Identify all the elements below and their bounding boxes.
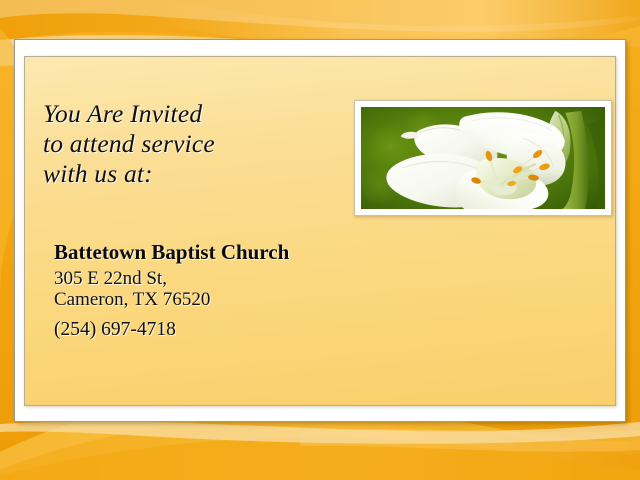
invitation-heading: You Are Invited to attend service with u…	[43, 99, 343, 189]
address-block: Battetown Baptist Church 305 E 22nd St, …	[54, 240, 394, 341]
city-state-zip: Cameron, TX 76520	[54, 289, 394, 310]
phone-number: (254) 697-4718	[54, 319, 394, 341]
lily-photo-icon	[361, 107, 605, 209]
invitation-slide: You Are Invited to attend service with u…	[0, 0, 640, 480]
lily-picture-frame	[354, 100, 612, 216]
street-address: 305 E 22nd St,	[54, 268, 394, 289]
church-name: Battetown Baptist Church	[54, 240, 394, 265]
